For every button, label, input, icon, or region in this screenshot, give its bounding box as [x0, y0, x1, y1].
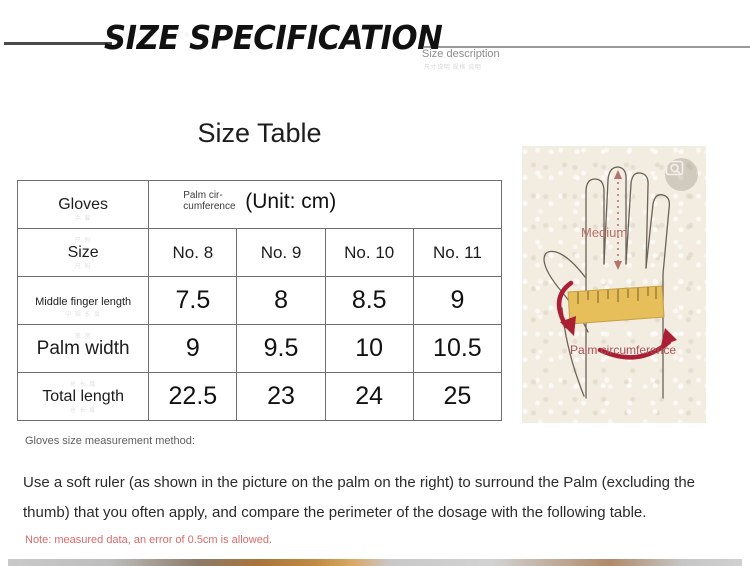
cell-value: 10.5: [433, 334, 482, 362]
tolerance-note: Note: measured data, an error of 0.5cm i…: [25, 534, 272, 546]
cell-value: 9.5: [264, 334, 299, 362]
page-title: SIZE SPECIFICATION: [104, 18, 442, 57]
cell-value: 24: [355, 382, 383, 410]
row-label: Size: [68, 244, 99, 261]
measurement-method-body: Use a soft ruler (as shown in the pictur…: [23, 468, 723, 528]
table-cell: No. 10: [325, 229, 413, 277]
medium-label-text: Medium: [581, 225, 627, 240]
table-cell: 22.5: [149, 373, 237, 421]
cell-value: 7.5: [175, 286, 210, 314]
ghost-text-gloves: 手 套: [18, 213, 148, 222]
table-cell: 23: [237, 373, 325, 421]
row-label: Palm width: [37, 338, 130, 359]
table-cell: 7.5: [149, 277, 237, 325]
cell-value: No. 8: [173, 243, 214, 262]
table-header-unit-cell: Palm cir-cumference (Unit: cm): [149, 181, 502, 229]
cell-value: 22.5: [169, 382, 218, 410]
table-row: Middle finger length 中 指 长 度 7.5 8 8.5 9: [18, 277, 502, 325]
cell-value: 25: [443, 382, 471, 410]
cell-value: 9: [450, 286, 464, 314]
header-subtitle: Size description: [422, 48, 500, 60]
measure-arrow-down: [614, 261, 622, 270]
cell-value: 8.5: [352, 286, 387, 314]
size-table: Gloves 手 套 Palm cir-cumference (Unit: cm…: [17, 180, 502, 421]
cell-value: 23: [267, 382, 295, 410]
header-rule-left: [4, 42, 112, 45]
table-cell: No. 8: [149, 229, 237, 277]
row-label-cell: Total length 总 长 度 总 长 度: [18, 373, 149, 421]
row-label-cell: Middle finger length 中 指 长 度: [18, 277, 149, 325]
table-row: Size 尺 码 尺 码 No. 8 No. 9 No. 10 No. 11: [18, 229, 502, 277]
ghost-text-row-bottom: 尺 码: [18, 261, 148, 270]
hand-measurement-figure: Medium Palm circumference: [522, 146, 706, 423]
table-cell: 8: [237, 277, 325, 325]
measurement-method-label: Gloves size measurement method:: [25, 435, 225, 448]
table-cell: 9: [149, 325, 237, 373]
bottom-image-strip: [8, 559, 742, 566]
cell-value: 9: [186, 334, 200, 362]
table-cell: No. 11: [413, 229, 501, 277]
row-label: Total length: [42, 388, 124, 405]
palm-circumference-label: Palm cir-cumference: [183, 190, 253, 212]
ghost-text-subtitle: 尺寸说明 规格 说明: [424, 62, 481, 71]
middle-finger-outline: [604, 167, 626, 264]
table-cell: 8.5: [325, 277, 413, 325]
cell-value: 10: [355, 334, 383, 362]
page-header: 尺码规格表 手套尺寸对照表 测量方法说明 SIZE SPECIFICATION …: [0, 18, 750, 66]
cell-value: 8: [274, 286, 288, 314]
table-cell: 9.5: [237, 325, 325, 373]
table-cell: 24: [325, 373, 413, 421]
table-cell: 10: [325, 325, 413, 373]
table-cell: 10.5: [413, 325, 501, 373]
table-header-gloves-label: Gloves: [58, 196, 108, 213]
table-row: Total length 总 长 度 总 长 度 22.5 23 24 25: [18, 373, 502, 421]
size-table-heading: Size Table: [17, 118, 502, 149]
table-header-row: Gloves 手 套 Palm cir-cumference (Unit: cm…: [18, 181, 502, 229]
row-label-cell: Palm width 掌 宽: [18, 325, 149, 373]
palm-circumference-label-text: Palm circumference: [570, 343, 676, 357]
row-label: Middle finger length: [35, 296, 131, 308]
cell-value: No. 11: [433, 243, 482, 262]
table-cell: No. 9: [237, 229, 325, 277]
measure-arrow-up: [614, 170, 622, 179]
ghost-text-row-bottom: 总 长 度: [18, 405, 148, 414]
cell-value: No. 9: [261, 243, 302, 262]
row-label-cell: Size 尺 码 尺 码: [18, 229, 149, 277]
ring-finger-outline: [626, 173, 648, 268]
unit-overlay-label: (Unit: cm): [245, 190, 336, 214]
ghost-text-row-bottom: 中 指 长 度: [18, 309, 148, 318]
table-header-gloves-cell: Gloves 手 套: [18, 181, 149, 229]
table-cell: 25: [413, 373, 501, 421]
table-row: Palm width 掌 宽 9 9.5 10 10.5: [18, 325, 502, 373]
ruler-graphic: [568, 286, 664, 324]
cell-value: No. 10: [344, 243, 394, 262]
table-cell: 9: [413, 277, 501, 325]
image-search-icon[interactable]: [665, 158, 698, 191]
